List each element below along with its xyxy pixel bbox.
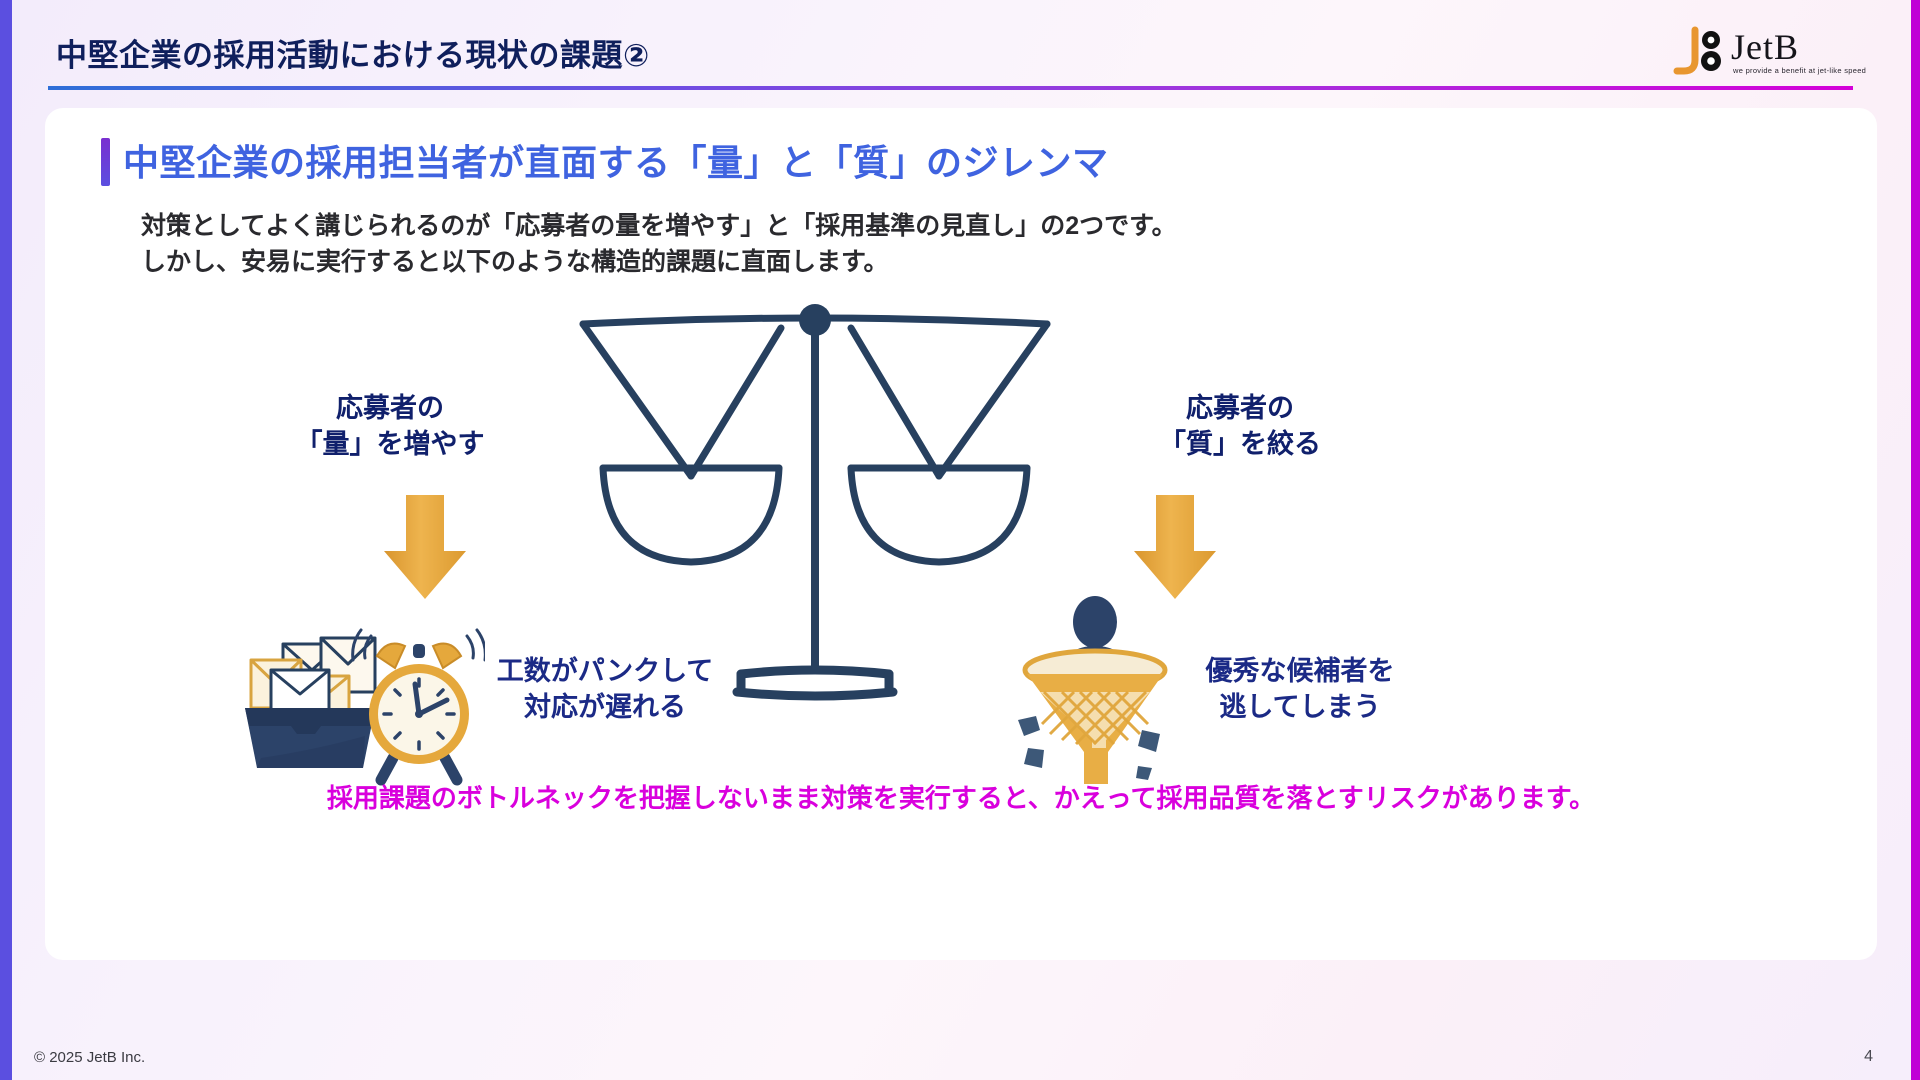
slide-header: 中堅企業の採用活動における現状の課題② JetB we provide a be… [12, 0, 1911, 108]
right-caption-line2: 逃してしまう [1155, 689, 1445, 725]
left-edge-accent-bottom [0, 540, 12, 1080]
left-caption: 工数がパンクして 対応が遅れる [460, 653, 750, 726]
envelopes-and-alarm-clock-icon [225, 608, 485, 788]
left-option-label: 応募者の 「量」を増やす [260, 390, 520, 463]
page-title: 中堅企業の採用活動における現状の課題② [56, 30, 650, 75]
section-title: 中堅企業の採用担当者が直面する「量」と「質」のジレンマ [123, 134, 1109, 186]
jetb-logo-tagline: we provide a benefit at jet-like speed [1733, 66, 1866, 75]
lead-line-1: 対策としてよく講じられるのが「応募者の量を増やす」と「採用基準の見直し」の2つで… [141, 208, 1177, 244]
left-edge-accent-top [0, 0, 12, 540]
left-option-label-line1: 応募者の [260, 390, 520, 426]
conclusion-text: 採用課題のボトルネックを把握しないまま対策を実行すると、かえって採用品質を落とす… [45, 778, 1877, 815]
right-option-label: 応募者の 「質」を絞る [1110, 390, 1370, 463]
lead-line-2: しかし、安易に実行すると以下のような構造的課題に直面します。 [141, 244, 1177, 280]
footer-copyright: © 2025 JetB Inc. [34, 1049, 145, 1066]
jetb-logo: JetB we provide a benefit at jet-like sp… [1669, 22, 1859, 84]
left-caption-line2: 対応が遅れる [460, 689, 750, 725]
content-card: 中堅企業の採用担当者が直面する「量」と「質」のジレンマ 対策としてよく講じられる… [45, 108, 1877, 960]
lead-paragraph: 対策としてよく講じられるのが「応募者の量を増やす」と「採用基準の見直し」の2つで… [141, 208, 1177, 281]
right-option-label-line2: 「質」を絞る [1110, 426, 1370, 462]
jetb-logo-wordmark: JetB [1731, 26, 1799, 68]
section-accent-bar [101, 138, 110, 186]
left-option-label-line2: 「量」を増やす [260, 426, 520, 462]
left-down-arrow-icon [380, 493, 470, 603]
right-option-label-line1: 応募者の [1110, 390, 1370, 426]
right-down-arrow-icon [1130, 493, 1220, 603]
slide: 中堅企業の採用活動における現状の課題② JetB we provide a be… [0, 0, 1920, 1080]
header-divider [48, 86, 1853, 90]
right-edge-accent [1911, 0, 1920, 1080]
right-caption: 優秀な候補者を 逃してしまう [1155, 653, 1445, 726]
left-caption-line1: 工数がパンクして [460, 653, 750, 689]
right-caption-line1: 優秀な候補者を [1155, 653, 1445, 689]
jetb-logo-mark-icon [1669, 26, 1731, 76]
footer-page-number: 4 [1864, 1048, 1873, 1066]
